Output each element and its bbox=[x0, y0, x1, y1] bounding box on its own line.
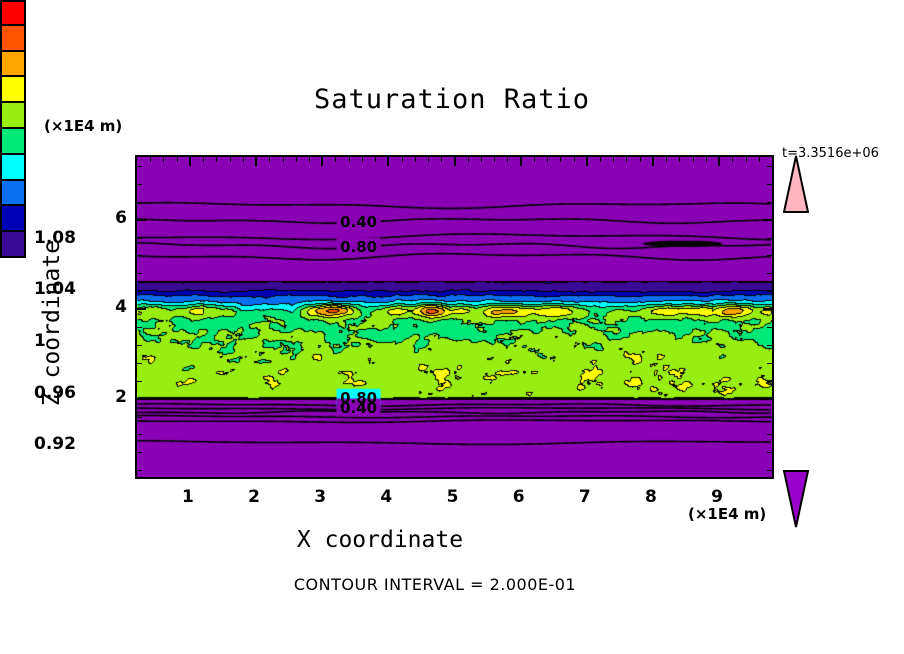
y-tick-minor-right bbox=[767, 381, 772, 382]
x-tick-minor-top bbox=[746, 157, 747, 162]
x-tick-major-top bbox=[255, 157, 257, 166]
y-tick-major bbox=[137, 219, 146, 221]
x-tick-major-top bbox=[387, 157, 389, 166]
y-tick-minor bbox=[137, 291, 142, 292]
page-title: Saturation Ratio bbox=[0, 84, 904, 115]
x-tick-minor-top bbox=[349, 157, 350, 162]
y-tick-minor bbox=[137, 238, 142, 239]
x-tick-label: 1 bbox=[182, 487, 194, 507]
y-tick-minor bbox=[137, 327, 142, 328]
x-tick-minor-top bbox=[600, 157, 601, 162]
x-axis-unit-label: (×1E4 m) bbox=[688, 505, 766, 523]
y-tick-minor bbox=[137, 184, 142, 185]
y-tick-label: 2 bbox=[99, 387, 127, 407]
x-tick-minor-top bbox=[177, 157, 178, 162]
x-tick-label: 8 bbox=[645, 487, 657, 507]
x-tick-minor-top bbox=[507, 157, 508, 162]
colorbar-tick-label: 0.92 bbox=[34, 434, 76, 454]
y-tick-minor-right bbox=[767, 184, 772, 185]
x-axis-title: X coordinate bbox=[0, 527, 760, 553]
y-tick-minor-right bbox=[767, 470, 772, 471]
x-tick-major-top bbox=[718, 157, 720, 166]
y-tick-minor-right bbox=[767, 417, 772, 418]
colorbar-under-arrow bbox=[783, 470, 809, 528]
colorbar-band bbox=[0, 0, 26, 26]
x-tick-label: 6 bbox=[513, 487, 525, 507]
x-tick-minor-top bbox=[706, 157, 707, 162]
y-tick-minor-right bbox=[767, 291, 772, 292]
x-tick-major-top bbox=[321, 157, 323, 166]
y-tick-minor bbox=[137, 202, 142, 203]
y-tick-minor-right bbox=[767, 238, 772, 239]
x-tick-minor-top bbox=[309, 157, 310, 162]
y-tick-minor bbox=[137, 434, 142, 435]
y-tick-label: 4 bbox=[99, 297, 127, 317]
x-tick-minor-top bbox=[415, 157, 416, 162]
y-tick-minor-right bbox=[767, 255, 772, 256]
y-tick-minor bbox=[137, 345, 142, 346]
contour-interval-note: CONTOUR INTERVAL = 2.000E-01 bbox=[0, 575, 870, 594]
contour-line-label: 0.80 bbox=[340, 238, 377, 256]
colorbar-band bbox=[0, 52, 26, 78]
y-tick-minor-right bbox=[767, 345, 772, 346]
y-tick-minor bbox=[137, 363, 142, 364]
x-tick-minor-top bbox=[216, 157, 217, 162]
x-tick-minor-top bbox=[759, 157, 760, 162]
x-tick-minor-top bbox=[547, 157, 548, 162]
colorbar-band bbox=[0, 26, 26, 52]
x-tick-minor-top bbox=[335, 157, 336, 162]
y-tick-minor-right bbox=[767, 452, 772, 453]
x-tick-minor-top bbox=[203, 157, 204, 162]
x-tick-label: 9 bbox=[711, 487, 723, 507]
x-tick-minor-top bbox=[574, 157, 575, 162]
x-tick-major-top bbox=[454, 157, 456, 166]
x-tick-label: 3 bbox=[314, 487, 326, 507]
x-tick-minor-top bbox=[626, 157, 627, 162]
x-tick-minor-top bbox=[640, 157, 641, 162]
x-tick-minor-top bbox=[296, 157, 297, 162]
y-axis-unit-label: (×1E4 m) bbox=[44, 117, 122, 135]
x-tick-minor-top bbox=[441, 157, 442, 162]
colorbar-band bbox=[0, 232, 26, 258]
y-axis-title: Z coordinate bbox=[39, 213, 65, 433]
y-tick-minor bbox=[137, 417, 142, 418]
y-tick-major-right bbox=[763, 308, 772, 310]
y-tick-major-right bbox=[763, 398, 772, 400]
x-tick-minor-top bbox=[375, 157, 376, 162]
x-tick-minor-top bbox=[560, 157, 561, 162]
x-tick-minor-top bbox=[732, 157, 733, 162]
x-tick-minor-top bbox=[150, 157, 151, 162]
x-tick-minor-top bbox=[679, 157, 680, 162]
colorbar-band bbox=[0, 155, 26, 181]
y-tick-label: 6 bbox=[99, 208, 127, 228]
colorbar-over-arrow bbox=[783, 155, 809, 213]
colorbar-band bbox=[0, 103, 26, 129]
colorbar-band bbox=[0, 77, 26, 103]
contour-line-label: 0.40 bbox=[340, 213, 377, 231]
x-tick-minor-top bbox=[481, 157, 482, 162]
x-tick-minor-top bbox=[283, 157, 284, 162]
y-tick-major bbox=[137, 308, 146, 310]
x-tick-minor-top bbox=[362, 157, 363, 162]
x-tick-minor-top bbox=[402, 157, 403, 162]
y-tick-minor bbox=[137, 273, 142, 274]
y-tick-minor-right bbox=[767, 434, 772, 435]
x-tick-minor-top bbox=[243, 157, 244, 162]
x-tick-minor-top bbox=[693, 157, 694, 162]
x-tick-minor-top bbox=[613, 157, 614, 162]
y-tick-minor-right bbox=[767, 327, 772, 328]
x-tick-minor-top bbox=[230, 157, 231, 162]
x-tick-label: 7 bbox=[579, 487, 591, 507]
colorbar[interactable] bbox=[0, 0, 26, 258]
x-tick-major-top bbox=[189, 157, 191, 166]
y-tick-minor bbox=[137, 381, 142, 382]
x-tick-major-top bbox=[652, 157, 654, 166]
contour-line-label: 0.40 bbox=[340, 399, 377, 417]
x-tick-minor-top bbox=[494, 157, 495, 162]
x-tick-minor-top bbox=[163, 157, 164, 162]
colorbar-band bbox=[0, 129, 26, 155]
y-tick-minor-right bbox=[767, 363, 772, 364]
y-tick-minor bbox=[137, 470, 142, 471]
x-tick-minor-top bbox=[534, 157, 535, 162]
x-tick-minor-top bbox=[468, 157, 469, 162]
y-tick-major-right bbox=[763, 219, 772, 221]
x-tick-minor-top bbox=[269, 157, 270, 162]
x-tick-minor-top bbox=[666, 157, 667, 162]
x-tick-label: 5 bbox=[447, 487, 459, 507]
y-tick-minor-right bbox=[767, 202, 772, 203]
colorbar-band bbox=[0, 206, 26, 232]
y-tick-major bbox=[137, 398, 146, 400]
colorbar-band bbox=[0, 181, 26, 207]
x-tick-major-top bbox=[520, 157, 522, 166]
x-tick-label: 4 bbox=[380, 487, 392, 507]
contour-field-canvas bbox=[137, 157, 772, 477]
x-tick-label: 2 bbox=[248, 487, 260, 507]
y-tick-minor-right bbox=[767, 273, 772, 274]
x-tick-major-top bbox=[586, 157, 588, 166]
y-tick-minor bbox=[137, 255, 142, 256]
y-tick-minor-right bbox=[767, 166, 772, 167]
x-tick-minor-top bbox=[428, 157, 429, 162]
y-tick-minor bbox=[137, 166, 142, 167]
y-tick-minor bbox=[137, 452, 142, 453]
contour-plot-area[interactable]: 0.400.800.800.40 bbox=[135, 155, 774, 479]
